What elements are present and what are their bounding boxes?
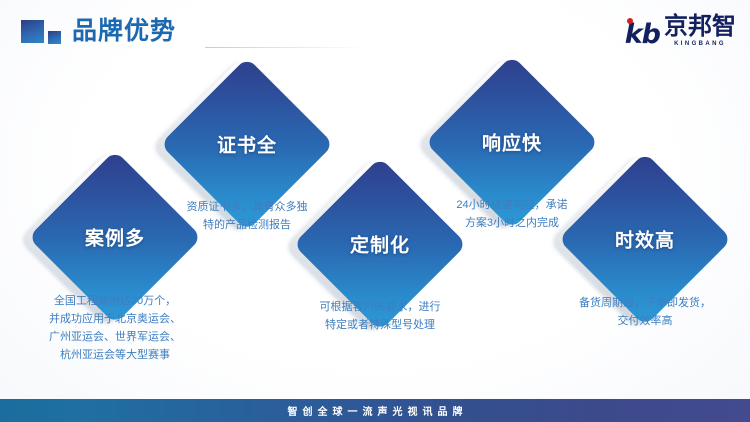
logo-name-block: 京邦智 KINGBANG (664, 15, 736, 48)
logo-name-en: KINGBANG (674, 40, 726, 48)
slide-root: 品牌优势 kb 京邦智 KINGBANG 案例多 全国工程案例达30万个， 并成… (0, 0, 750, 422)
feature-caption-1: 全国工程案例达30万个， 并成功应用于北京奥运会、 广州亚运会、世界军运会、 杭… (5, 292, 225, 364)
logo-red-dot-icon (627, 18, 633, 24)
feature-caption-3: 可根据客户的要求，进行 特定或者特殊型号处理 (270, 298, 490, 334)
feature-label-2: 证书全 (163, 131, 331, 158)
slide-footer: 智创全球一流声光视讯品牌 (0, 399, 750, 422)
feature-caption-5: 备货周期短，下单即发货， 交付效率高 (535, 294, 750, 330)
feature-label-5: 时效高 (561, 226, 729, 253)
brand-logo: kb 京邦智 KINGBANG (625, 14, 736, 48)
footer-slogan: 智创全球一流声光视讯品牌 (283, 403, 468, 418)
page-title: 品牌优势 (72, 15, 176, 47)
logo-mark-kb: kb (625, 21, 660, 48)
title-square-small-icon (48, 31, 61, 44)
logo-name-cn: 京邦智 (664, 15, 736, 39)
feature-label-3: 定制化 (296, 231, 464, 258)
title-square-large-icon (21, 20, 44, 43)
feature-label-4: 响应快 (428, 129, 596, 156)
title-underline-divider (205, 47, 365, 48)
